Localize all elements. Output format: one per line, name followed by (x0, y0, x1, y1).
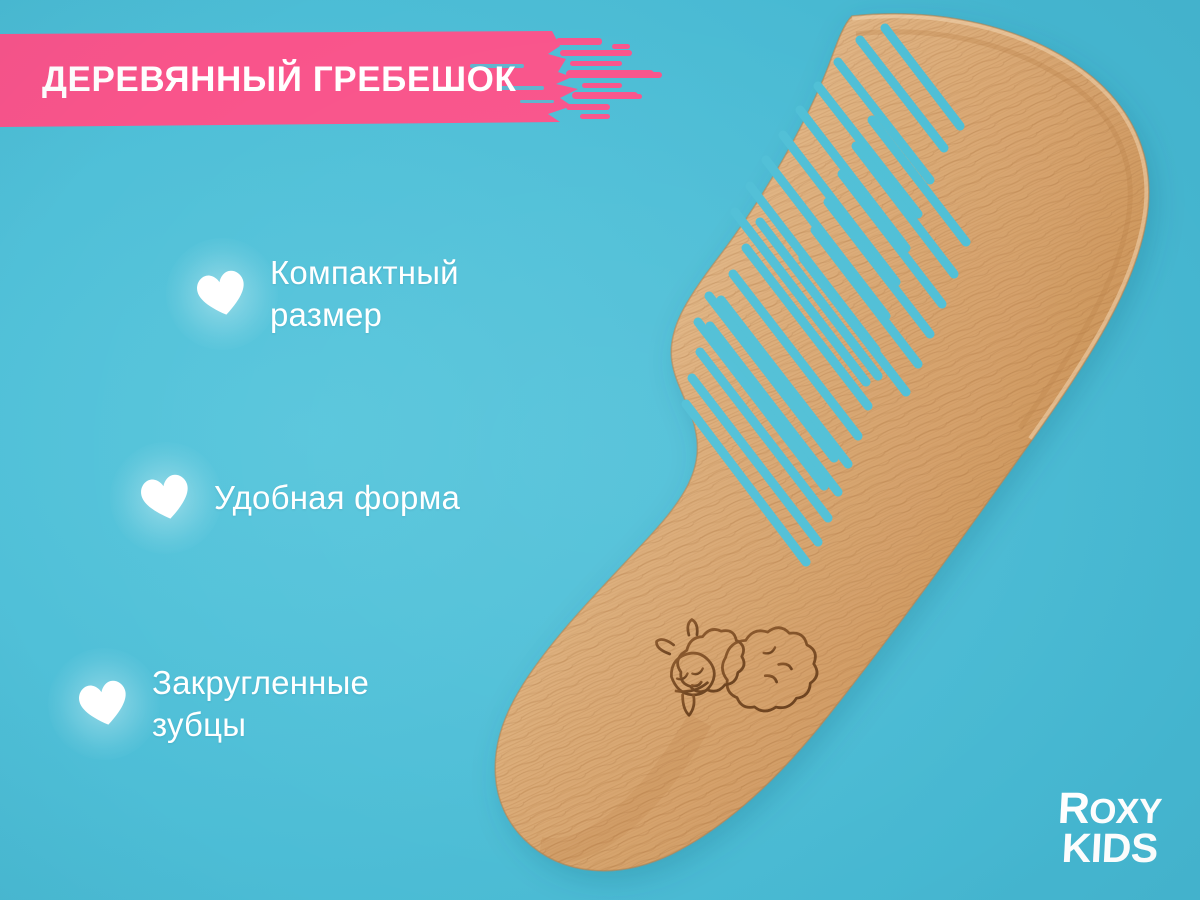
title-banner: ДЕРЕВЯННЫЙ ГРЕБЕШОК (0, 28, 700, 132)
feature-label: Компактный размер (270, 252, 459, 335)
feature-item-rounded-teeth: Закругленные зубцы (78, 662, 369, 745)
heart-icon (196, 268, 248, 320)
feature-item-comfortable-shape: Удобная форма (140, 472, 460, 524)
feature-label: Закругленные зубцы (152, 662, 369, 745)
brand-logo: ROXY KIDS (1058, 790, 1162, 866)
logo-roxy: ROXY (1057, 790, 1163, 829)
page-title: ДЕРЕВЯННЫЙ ГРЕБЕШОК (42, 28, 516, 132)
feature-item-compact-size: Компактный размер (196, 252, 459, 335)
feature-label: Удобная форма (214, 477, 460, 519)
product-banner-image: ДЕРЕВЯННЫЙ ГРЕБЕШОК Компактный размер Уд… (0, 0, 1200, 900)
logo-kids: KIDS (1057, 830, 1163, 866)
heart-icon (78, 678, 130, 730)
heart-icon (140, 472, 192, 524)
background-gradient (0, 0, 1200, 900)
